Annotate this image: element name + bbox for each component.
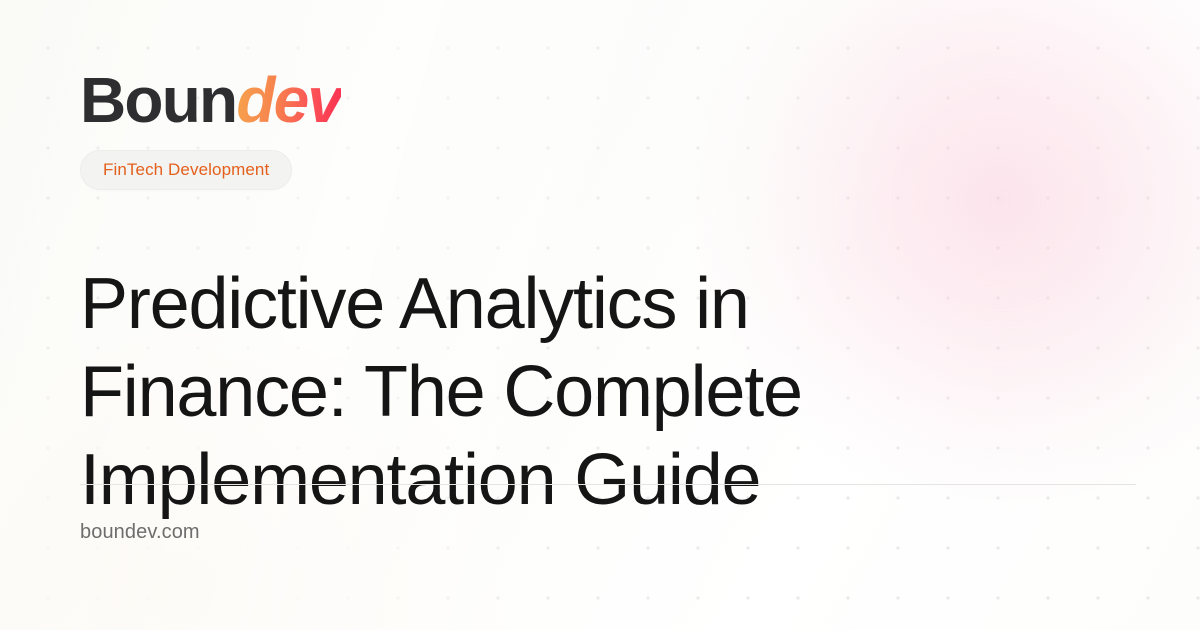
brand-logo: Boundev bbox=[80, 68, 341, 132]
category-badge: FinTech Development bbox=[80, 150, 292, 190]
card-content: Boundev FinTech Development Predictive A… bbox=[80, 0, 1136, 630]
logo-primary-text: Boun bbox=[80, 64, 236, 136]
og-card: Boundev FinTech Development Predictive A… bbox=[0, 0, 1200, 630]
category-badge-label: FinTech Development bbox=[103, 160, 269, 180]
site-url-label: boundev.com bbox=[80, 521, 200, 544]
page-title-line-1: Predictive Analytics in bbox=[80, 260, 960, 348]
page-title-line-3: Implementation Guide bbox=[80, 436, 960, 524]
logo-accent-text: dev bbox=[236, 64, 341, 136]
page-title-line-2: Finance: The Complete bbox=[80, 348, 960, 436]
horizontal-divider bbox=[80, 484, 1136, 485]
